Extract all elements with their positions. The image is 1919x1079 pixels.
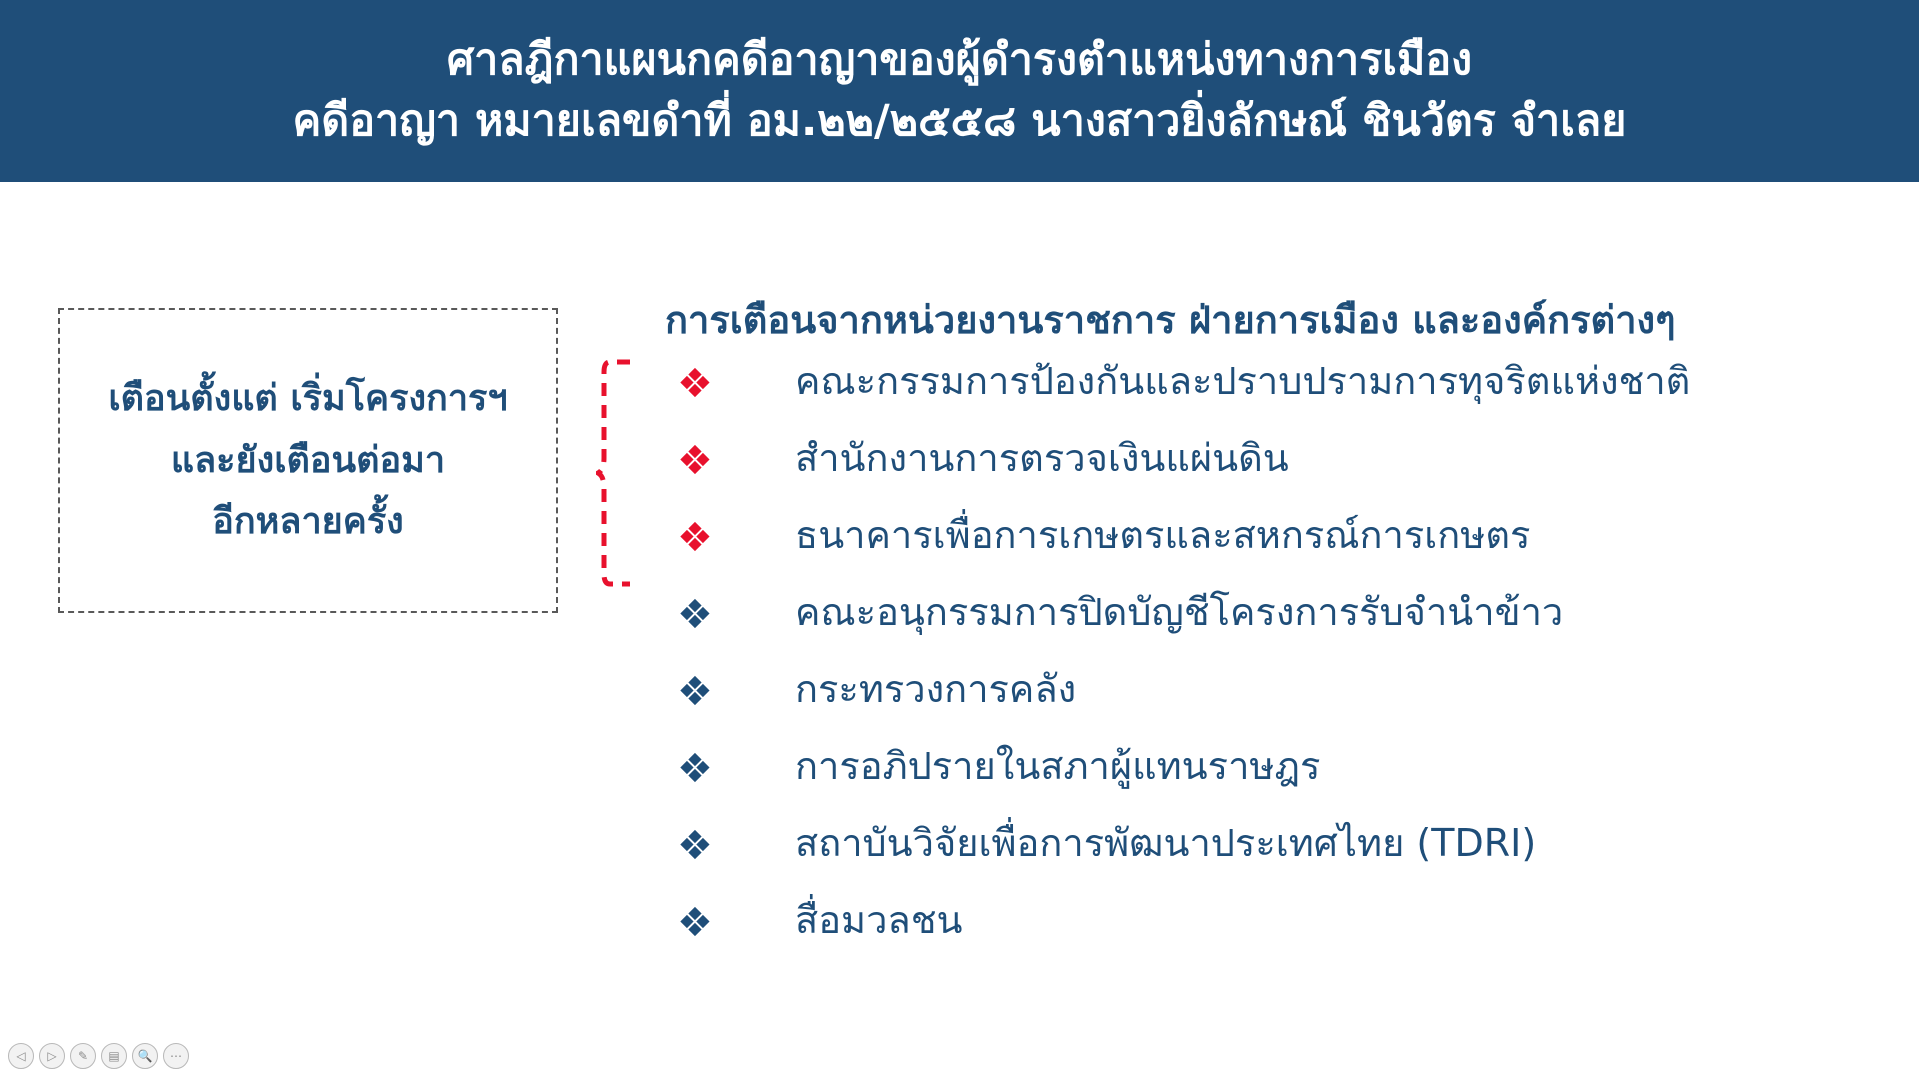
list-item[interactable]: ❖ สถาบันวิจัยเพื่อการพัฒนาประเทศไทย (TDR… [665,824,1865,901]
diamond-bullet-icon: ❖ [665,439,795,481]
list-item-label: สื่อมวลชน [795,901,962,941]
next-slide-icon[interactable]: ▷ [39,1043,65,1069]
pen-icon[interactable]: ✎ [70,1043,96,1069]
list-item-label: การอภิปรายในสภาผู้แทนราษฎร [795,747,1320,787]
more-options-icon[interactable]: ⋯ [163,1043,189,1069]
previous-slide-icon[interactable]: ◁ [8,1043,34,1069]
presentation-toolbar: ◁ ▷ ✎ ▤ 🔍 ⋯ [8,1043,189,1069]
diamond-bullet-icon: ❖ [665,670,795,712]
callout-line-2: และยังเตือนต่อมา [171,439,445,483]
callout-line-3: อีกหลายครั้ง [212,500,404,544]
list-item[interactable]: ❖ สื่อมวลชน [665,901,1865,978]
list-item[interactable]: ❖ คณะอนุกรรมการปิดบัญชีโครงการรับจำนำข้า… [665,593,1865,670]
diamond-bullet-icon: ❖ [665,747,795,789]
diamond-bullet-icon: ❖ [665,593,795,635]
diamond-bullet-icon: ❖ [665,362,795,404]
list-item[interactable]: ❖ คณะกรรมการป้องกันและปราบปรามการทุจริตแ… [665,362,1865,439]
all-slides-icon[interactable]: ▤ [101,1043,127,1069]
list-item[interactable]: ❖ การอภิปรายในสภาผู้แทนราษฎร [665,747,1865,824]
header-title-line-1: ศาลฎีกาแผนกคดีอาญาของผู้ดำรงตำแหน่งทางกา… [447,33,1472,88]
callout-box: เตือนตั้งแต่ เริ่มโครงการฯ และยังเตือนต่… [58,308,558,613]
list-item-label: สถาบันวิจัยเพื่อการพัฒนาประเทศไทย (TDRI) [795,824,1536,864]
list-item-label: ธนาคารเพื่อการเกษตรและสหกรณ์การเกษตร [795,516,1530,556]
warnings-list: ❖ คณะกรรมการป้องกันและปราบปรามการทุจริตแ… [665,362,1865,978]
diamond-bullet-icon: ❖ [665,516,795,558]
slide-header-banner: ศาลฎีกาแผนกคดีอาญาของผู้ดำรงตำแหน่งทางกา… [0,0,1919,182]
zoom-icon[interactable]: 🔍 [132,1043,158,1069]
callout-line-1: เตือนตั้งแต่ เริ่มโครงการฯ [108,377,507,421]
content-heading: การเตือนจากหน่วยงานราชการ ฝ่ายการเมือง แ… [665,298,1676,344]
list-item-label: คณะอนุกรรมการปิดบัญชีโครงการรับจำนำข้าว [795,593,1563,633]
header-title-line-2: คดีอาญา หมายเลขดำที่ อม.๒๒/๒๕๕๘ นางสาวยิ… [293,94,1627,149]
list-item[interactable]: ❖ สำนักงานการตรวจเงินแผ่นดิน [665,439,1865,516]
list-item-label: สำนักงานการตรวจเงินแผ่นดิน [795,439,1289,479]
list-item[interactable]: ❖ ธนาคารเพื่อการเกษตรและสหกรณ์การเกษตร [665,516,1865,593]
red-curly-brace-icon [596,358,640,588]
diamond-bullet-icon: ❖ [665,824,795,866]
list-item[interactable]: ❖ กระทรวงการคลัง [665,670,1865,747]
list-item-label: กระทรวงการคลัง [795,670,1076,710]
list-item-label: คณะกรรมการป้องกันและปราบปรามการทุจริตแห่… [795,362,1690,402]
diamond-bullet-icon: ❖ [665,901,795,943]
presentation-slide: ศาลฎีกาแผนกคดีอาญาของผู้ดำรงตำแหน่งทางกา… [0,0,1919,1079]
